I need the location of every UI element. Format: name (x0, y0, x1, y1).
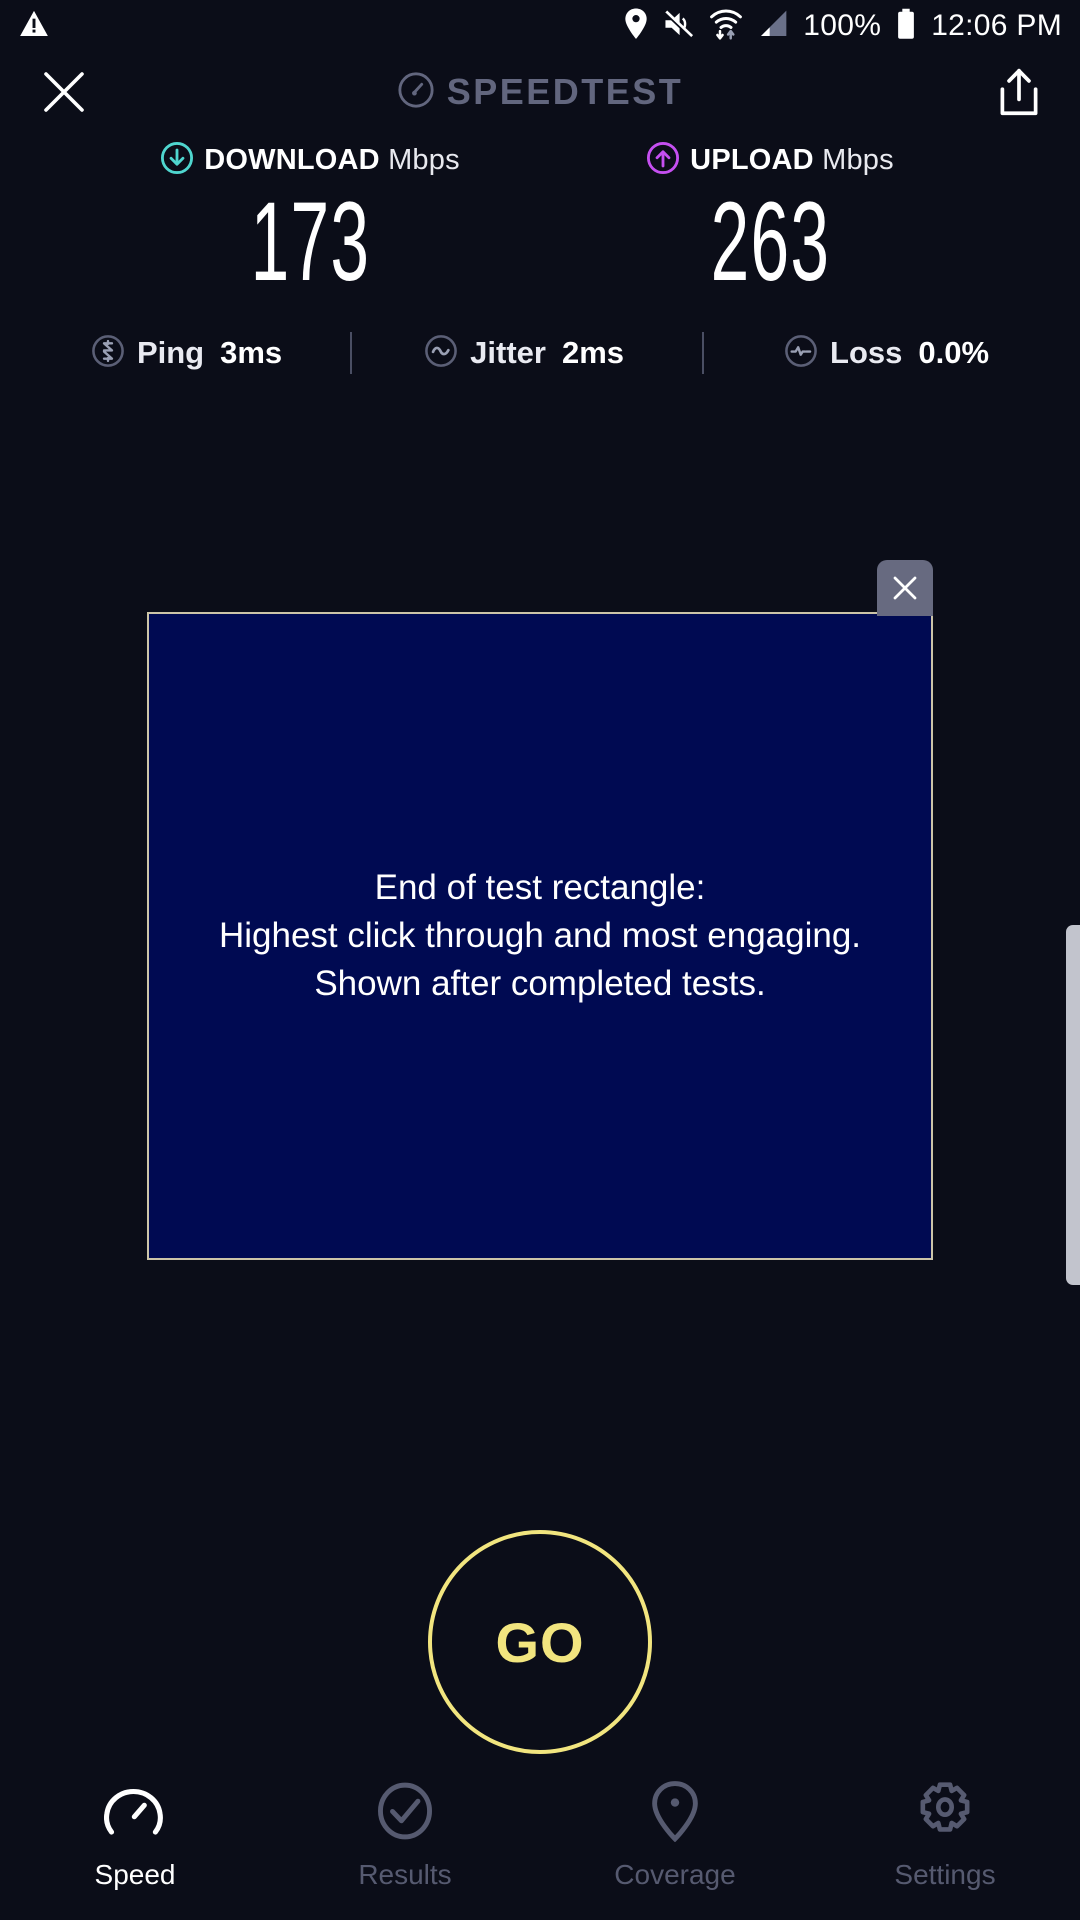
ad-close-button[interactable] (877, 560, 933, 616)
download-result: DOWNLOAD Mbps 173 (120, 140, 500, 298)
clock-label: 12:06 PM (931, 9, 1062, 43)
bottom-navigation: Speed Results Coverage Settings (0, 1750, 1080, 1920)
speedometer-icon (104, 1779, 166, 1843)
nav-item-results[interactable]: Results (270, 1750, 540, 1920)
map-pin-icon (650, 1779, 700, 1843)
status-bar-left (18, 8, 50, 45)
page-title: SPEEDTEST (447, 71, 684, 113)
metric-jitter-label: Jitter (470, 335, 546, 371)
download-label: DOWNLOAD Mbps (204, 144, 460, 177)
ping-icon (91, 334, 125, 373)
battery-full-icon (895, 8, 917, 45)
network-metrics-row: Ping 3ms Jitter 2ms (0, 332, 1080, 374)
wifi-icon (709, 7, 743, 46)
arrow-down-circle-icon (160, 141, 194, 180)
download-value: 173 (250, 186, 370, 298)
close-icon[interactable] (40, 68, 88, 116)
ad-line-1: End of test rectangle: (219, 864, 861, 912)
ad-banner[interactable]: End of test rectangle: Highest click thr… (147, 612, 933, 1260)
speedometer-icon (397, 71, 435, 114)
location-pin-icon (623, 8, 649, 45)
app-header: SPEEDTEST (0, 52, 1080, 132)
metric-loss-value: 0.0% (918, 335, 989, 371)
speed-results-row: DOWNLOAD Mbps 173 UPLOAD Mbps 263 (0, 140, 1080, 298)
cellular-signal-icon (757, 9, 789, 44)
volume-mute-icon (663, 9, 695, 44)
ad-line-2: Highest click through and most engaging. (219, 912, 861, 960)
upload-result: UPLOAD Mbps 263 (580, 140, 960, 298)
status-bar: 100% 12:06 PM (0, 0, 1080, 52)
check-circle-icon (376, 1779, 434, 1843)
metric-jitter: Jitter 2ms (424, 334, 624, 373)
nav-item-coverage[interactable]: Coverage (540, 1750, 810, 1920)
ad-text: End of test rectangle: Highest click thr… (219, 864, 861, 1008)
battery-percent-label: 100% (803, 9, 881, 43)
brand-logo: SPEEDTEST (0, 71, 1080, 114)
go-button-label: GO (495, 1610, 584, 1675)
nav-item-settings-label: Settings (894, 1859, 995, 1891)
metric-jitter-value: 2ms (562, 335, 624, 371)
warning-triangle-icon (18, 8, 50, 45)
metric-ping-label: Ping (137, 335, 204, 371)
arrow-up-circle-icon (646, 141, 680, 180)
status-bar-right: 100% 12:06 PM (623, 7, 1062, 46)
gear-icon (915, 1779, 975, 1843)
nav-item-coverage-label: Coverage (614, 1859, 735, 1891)
nav-item-speed[interactable]: Speed (0, 1750, 270, 1920)
metric-divider (350, 332, 352, 374)
nav-item-settings[interactable]: Settings (810, 1750, 1080, 1920)
share-icon[interactable] (998, 68, 1040, 116)
upload-value: 263 (710, 186, 830, 298)
metric-ping-value: 3ms (220, 335, 282, 371)
upload-header: UPLOAD Mbps (646, 140, 894, 180)
upload-label: UPLOAD Mbps (690, 144, 894, 177)
jitter-icon (424, 334, 458, 373)
metric-loss: Loss 0.0% (784, 334, 989, 373)
metric-loss-label: Loss (830, 335, 902, 371)
nav-item-results-label: Results (358, 1859, 451, 1891)
go-button[interactable]: GO (428, 1530, 652, 1754)
download-header: DOWNLOAD Mbps (160, 140, 460, 180)
metric-ping: Ping 3ms (91, 334, 282, 373)
nav-item-speed-label: Speed (95, 1859, 176, 1891)
advertisement: End of test rectangle: Highest click thr… (147, 612, 933, 1260)
metric-divider (702, 332, 704, 374)
loss-icon (784, 334, 818, 373)
vertical-scrollbar[interactable] (1066, 925, 1080, 1285)
results-panel: DOWNLOAD Mbps 173 UPLOAD Mbps 263 (0, 140, 1080, 374)
ad-line-3: Shown after completed tests. (219, 960, 861, 1008)
